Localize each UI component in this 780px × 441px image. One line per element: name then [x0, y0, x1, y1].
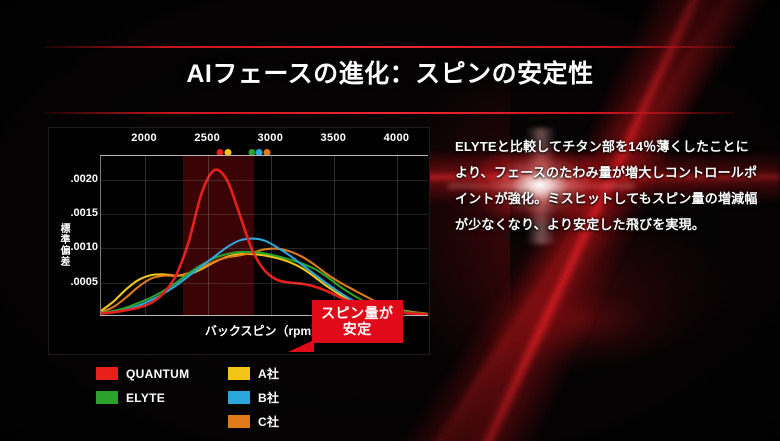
x-axis-tick-label: 3000 — [257, 132, 283, 144]
callout-line-1: スピン量が — [321, 305, 394, 321]
legend-label: B社 — [258, 389, 279, 406]
chart-x-axis-ticks-top: 20002500300035004000 — [100, 132, 428, 150]
legend-swatch-icon — [228, 415, 250, 428]
legend-item: A社 — [228, 363, 279, 384]
gridline-horizontal — [101, 180, 428, 181]
x-axis-tick-label: 4000 — [384, 132, 410, 144]
legend-item: B社 — [228, 387, 279, 408]
legend-swatch-icon — [96, 367, 118, 380]
legend-label: ELYTE — [126, 391, 165, 405]
callout-pointer — [288, 340, 314, 352]
series-line-QUANTUM — [101, 170, 428, 315]
legend-swatch-icon — [228, 391, 250, 404]
legend-label: QUANTUM — [126, 367, 189, 381]
chart-y-axis-ticks: .0005.0010.0015.0020 — [49, 155, 98, 316]
gridline-horizontal — [101, 283, 428, 284]
y-axis-tick-label: .0015 — [70, 207, 98, 219]
slide-root: AIフェースの進化：スピンの安定性 標準偏差 20002500300035004… — [0, 0, 780, 441]
chart-plot-area — [100, 155, 428, 316]
y-axis-tick-label: .0020 — [70, 173, 98, 185]
body-paragraph: ELYTEと比較してチタン部を14％薄くしたことにより、フェースのたわみ量が増大… — [455, 134, 760, 238]
legend-column-left: QUANTUMELYTE — [96, 363, 189, 411]
gridline-horizontal — [101, 248, 428, 249]
y-axis-tick-label: .0005 — [70, 276, 98, 288]
x-axis-tick-label: 2500 — [194, 132, 220, 144]
legend-item: ELYTE — [96, 387, 189, 408]
callout-badge: スピン量が 安定 — [312, 300, 403, 343]
legend-label: A社 — [258, 365, 279, 382]
chart-legend: QUANTUMELYTE A社B社C社 — [48, 357, 430, 431]
chart-panel: 標準偏差 20002500300035004000 .0005.0010.001… — [48, 127, 430, 355]
header: AIフェースの進化：スピンの安定性 — [0, 46, 780, 114]
y-axis-tick-label: .0010 — [70, 241, 98, 253]
legend-item: QUANTUM — [96, 363, 189, 384]
gridline-horizontal — [101, 214, 428, 215]
x-axis-tick-label: 2000 — [131, 132, 157, 144]
header-rule-top — [45, 46, 735, 48]
legend-swatch-icon — [228, 367, 250, 380]
page-title: AIフェースの進化：スピンの安定性 — [0, 54, 780, 90]
legend-column-right: A社B社C社 — [228, 363, 279, 435]
legend-label: C社 — [258, 413, 279, 430]
x-axis-tick-label: 3500 — [321, 132, 347, 144]
body-text-block: ELYTEと比較してチタン部を14％薄くしたことにより、フェースのたわみ量が増大… — [455, 134, 760, 238]
legend-item: C社 — [228, 411, 279, 432]
legend-swatch-icon — [96, 391, 118, 404]
header-rule-bottom — [45, 112, 735, 114]
callout-line-2: 安定 — [321, 321, 394, 337]
